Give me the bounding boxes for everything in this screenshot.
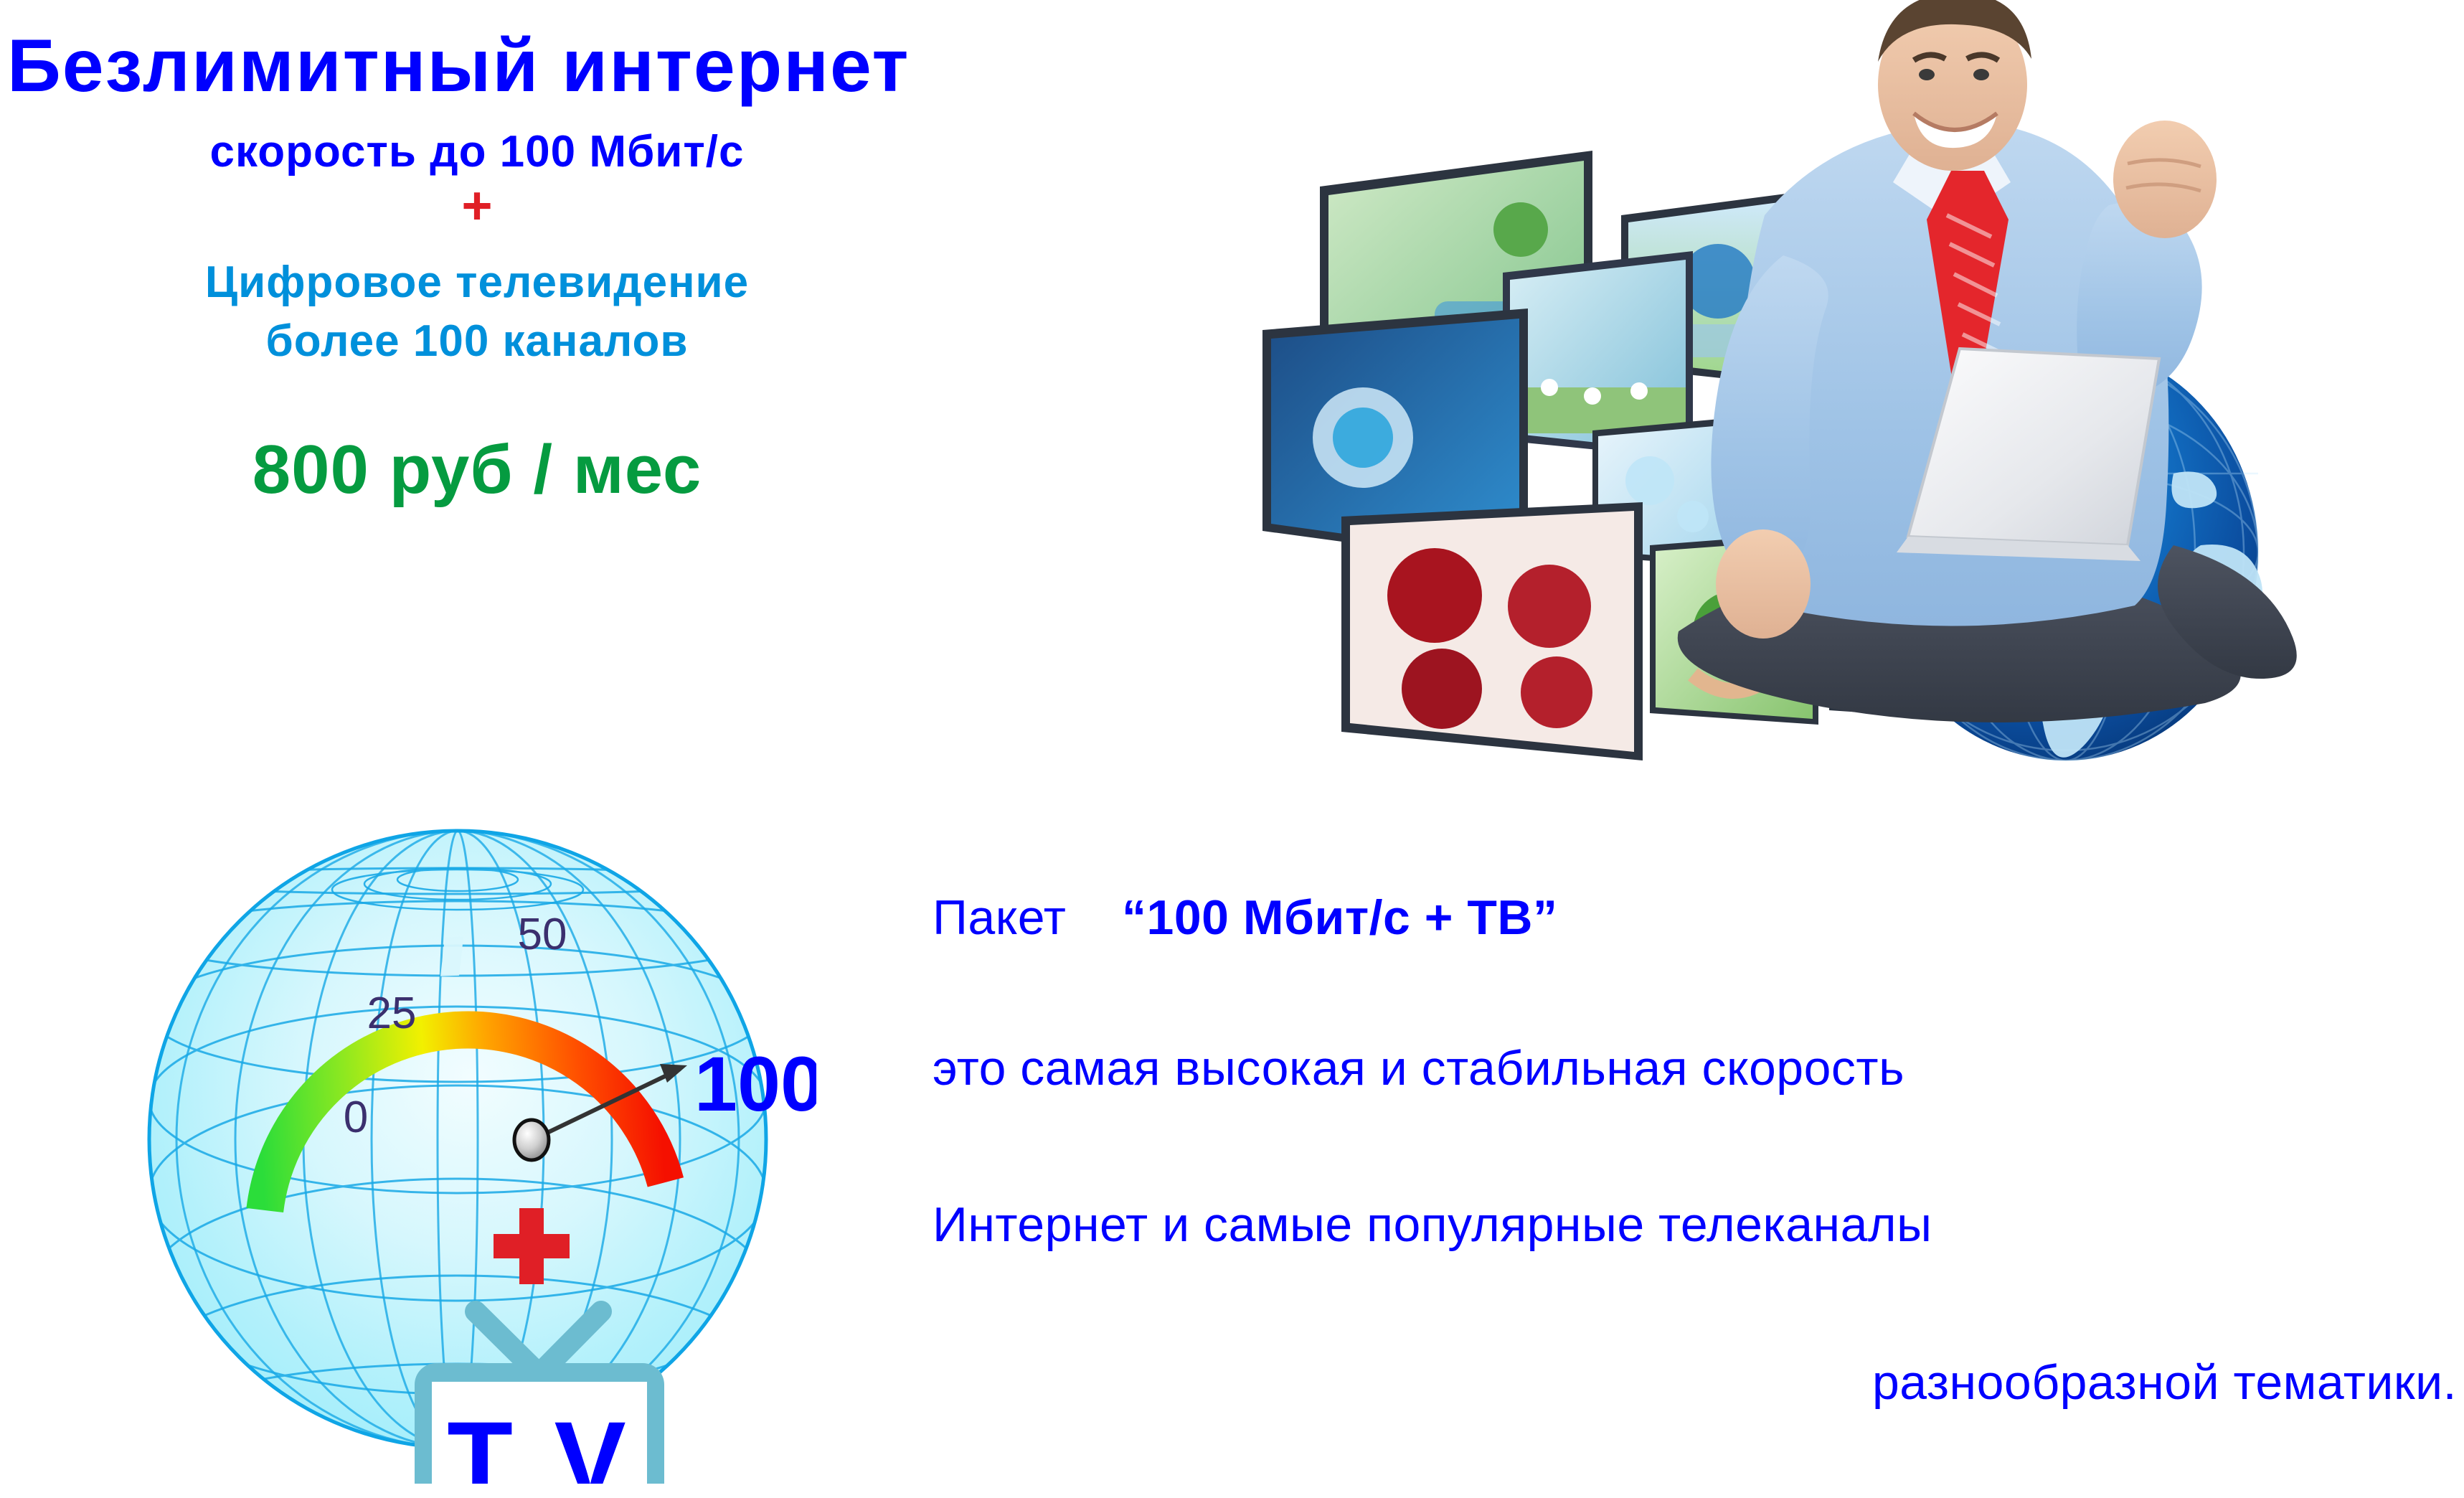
gauge-tick-0: 0 [344,1093,368,1142]
digital-tv-heading: Цифровое телевидение [0,257,954,308]
slide-canvas: Безлимитный интернет скорость до 100 Мби… [0,0,2464,1498]
channel-count-text: более 100 каналов [0,316,954,367]
price-value: 800 руб / мес [0,430,954,509]
page-title: Безлимитный интернет [7,29,1112,103]
package-quoted-name: “100 Мбит/с + ТВ” [1122,890,1557,945]
package-prefix: Пакет [933,890,1066,945]
gauge-tick-50: 50 [518,910,567,959]
screen-tile [1341,502,1643,760]
benefit-line-2: Интернет и самые популярные телеканалы [933,1197,2464,1253]
globe-gauge-graphic: 0 25 50 100 [128,795,816,1484]
package-name-line: Пакет “100 Мбит/с + ТВ” [933,890,2464,946]
left-text-column: Безлимитный интернет скорость до 100 Мби… [0,0,1119,775]
gauge-tick-25: 25 [367,989,417,1038]
businessman-photo [1678,0,2297,722]
tv-icon-label: T V [447,1399,631,1484]
speed-subtitle: скорость до 100 Мбит/с [0,126,954,177]
hero-photo-composition [1219,0,2464,872]
right-text-column: Пакет “100 Мбит/с + ТВ” это самая высока… [933,890,2464,1492]
gauge-value-label: 100 [694,1040,816,1127]
benefit-line-1: это самая высокая и стабильная скорость [933,1040,2464,1096]
benefit-line-3: разнообразной тематики. [933,1355,2464,1410]
plus-sign-separator: + [0,179,954,232]
